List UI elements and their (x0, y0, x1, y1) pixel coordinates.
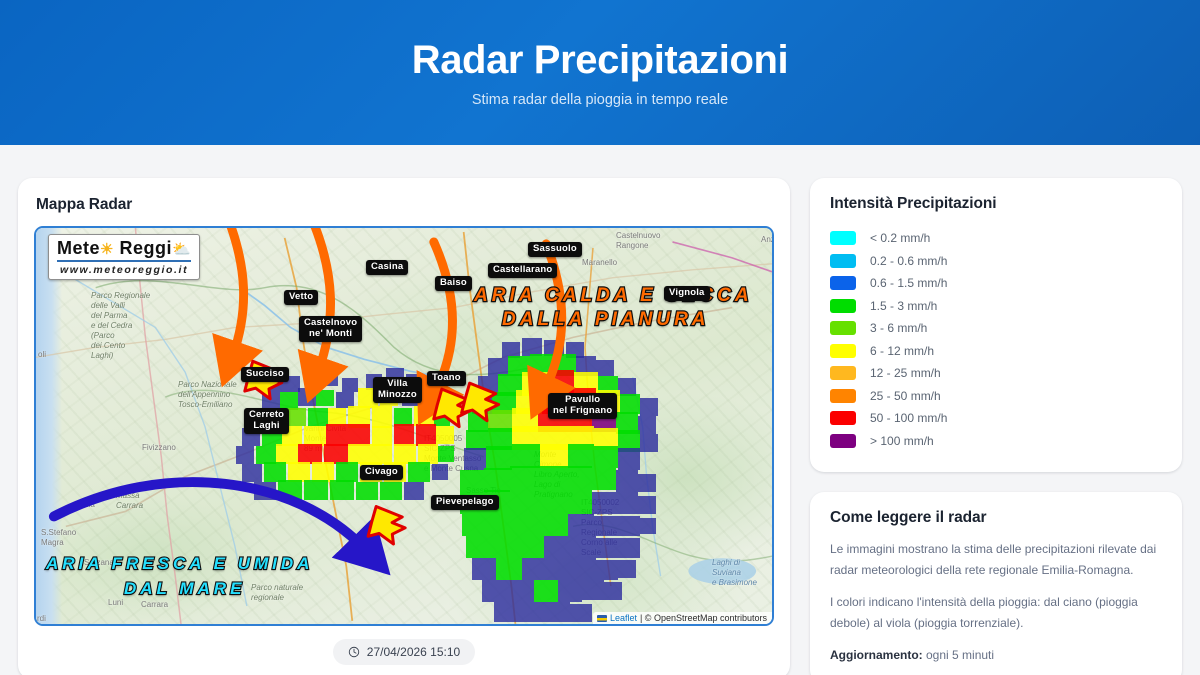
update-label: Aggiornamento: (830, 648, 923, 662)
town-label: Castelnovo ne' Monti (299, 316, 362, 342)
page-title: Radar Precipitazioni (412, 38, 789, 82)
legend-swatch (830, 434, 856, 448)
legend-swatch (830, 389, 856, 403)
leaflet-link[interactable]: Leaflet (610, 613, 637, 623)
info-card: Come leggere il radar Le immagini mostra… (810, 492, 1182, 675)
clock-icon (348, 646, 360, 658)
map-column: Mappa Radar (18, 178, 790, 675)
legend-label: 0.2 - 0.6 mm/h (870, 254, 947, 268)
town-label: Pavullo nel Frignano (548, 393, 617, 419)
legend-label: 0.6 - 1.5 mm/h (870, 276, 947, 290)
info-title: Come leggere il radar (830, 509, 1162, 527)
legend-swatch (830, 344, 856, 358)
legend-row: < 0.2 mm/h (830, 227, 1162, 250)
legend-swatch (830, 366, 856, 380)
legend-row: 0.2 - 0.6 mm/h (830, 250, 1162, 273)
info-paragraph-1: Le immagini mostrano la stima delle prec… (830, 539, 1162, 581)
town-label: Succiso (241, 367, 289, 382)
legend-row: > 100 mm/h (830, 430, 1162, 453)
legend-row: 0.6 - 1.5 mm/h (830, 272, 1162, 295)
update-value: ogni 5 minuti (923, 648, 994, 662)
radar-map[interactable]: Parco Regionale delle Valli del Parma e … (34, 226, 774, 626)
town-label: Vetto (284, 290, 318, 305)
info-paragraph-3: Aggiornamento: ogni 5 minuti (830, 645, 1162, 666)
town-label: Castellarano (488, 263, 557, 278)
legend-row: 12 - 25 mm/h (830, 362, 1162, 385)
legend-label: < 0.2 mm/h (870, 231, 930, 245)
town-label: Casina (366, 260, 408, 275)
watermark-divider (57, 260, 191, 262)
watermark-url: www.meteoreggio.it (57, 264, 191, 276)
town-label: Vignola (664, 286, 710, 301)
info-paragraph-2: I colori indicano l'intensità della piog… (830, 592, 1162, 634)
meteo-reggio-watermark: Mete☀ Reggi⛅ www.meteoreggio.it (48, 234, 200, 280)
map-attribution[interactable]: Leaflet | © OpenStreetMap contributors (593, 612, 772, 624)
legend-swatch (830, 411, 856, 425)
legend-title: Intensità Precipitazioni (830, 195, 1162, 213)
town-label: Cerreto Laghi (244, 408, 289, 434)
town-label: Sassuolo (528, 242, 582, 257)
watermark-brand-part1: Mete (57, 238, 100, 258)
leaflet-logo-icon (597, 615, 607, 622)
legend-label: 6 - 12 mm/h (870, 344, 934, 358)
legend-row: 1.5 - 3 mm/h (830, 295, 1162, 318)
legend-list: < 0.2 mm/h0.2 - 0.6 mm/h0.6 - 1.5 mm/h1.… (830, 227, 1162, 452)
radar-timestamp: 27/04/2026 15:10 (333, 639, 475, 665)
town-label: Civago (360, 465, 403, 480)
town-label: Pievepelago (431, 495, 499, 510)
legend-swatch (830, 276, 856, 290)
page-subtitle: Stima radar della pioggia in tempo reale (472, 92, 728, 108)
legend-label: 25 - 50 mm/h (870, 389, 941, 403)
legend-swatch (830, 321, 856, 335)
watermark-brand: Mete☀ Reggi⛅ (57, 239, 191, 257)
map-card-title: Mappa Radar (36, 196, 774, 214)
legend-row: 50 - 100 mm/h (830, 407, 1162, 430)
legend-label: > 100 mm/h (870, 434, 934, 448)
sidebar-column: Intensità Precipitazioni < 0.2 mm/h0.2 -… (810, 178, 1182, 675)
convergence-arrows (36, 228, 772, 626)
legend-swatch (830, 231, 856, 245)
watermark-brand-part2: Reggi (114, 238, 172, 258)
legend-card: Intensità Precipitazioni < 0.2 mm/h0.2 -… (810, 178, 1182, 472)
timestamp-text: 27/04/2026 15:10 (367, 645, 460, 659)
town-label: Baiso (435, 276, 472, 291)
legend-swatch (830, 299, 856, 313)
town-label: Toano (427, 371, 466, 386)
legend-row: 3 - 6 mm/h (830, 317, 1162, 340)
legend-swatch (830, 254, 856, 268)
legend-label: 12 - 25 mm/h (870, 366, 941, 380)
page-body: Mappa Radar (0, 145, 1200, 675)
sun-icon: ☀ (100, 241, 114, 258)
legend-label: 3 - 6 mm/h (870, 321, 927, 335)
page-header: Radar Precipitazioni Stima radar della p… (0, 0, 1200, 145)
map-card: Mappa Radar (18, 178, 790, 675)
attribution-text: | © OpenStreetMap contributors (640, 613, 767, 623)
legend-row: 25 - 50 mm/h (830, 385, 1162, 408)
timestamp-row: 27/04/2026 15:10 (34, 639, 774, 665)
town-label: Villa Minozzo (373, 377, 422, 403)
legend-row: 6 - 12 mm/h (830, 340, 1162, 363)
legend-label: 1.5 - 3 mm/h (870, 299, 937, 313)
sun-behind-cloud-icon: ⛅ (172, 241, 191, 258)
legend-label: 50 - 100 mm/h (870, 411, 947, 425)
